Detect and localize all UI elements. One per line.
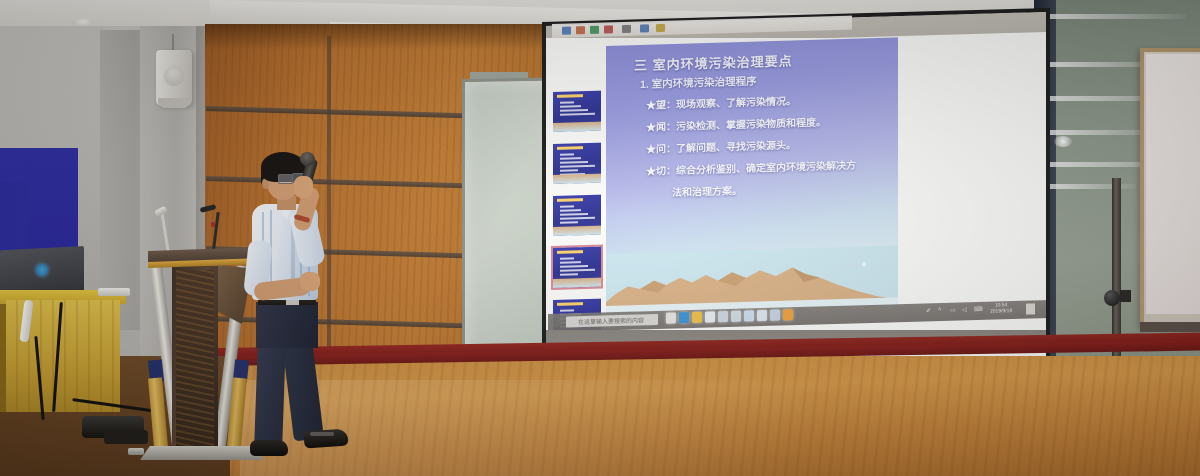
thumb-text-line [560,157,581,160]
ime-icon[interactable]: ⌨ [974,306,983,313]
floor-reflection [240,380,1200,476]
lectern-front-panel [176,270,214,450]
thumb-text-line [560,205,574,207]
thumb-title-bar [557,198,583,202]
slide-bullet-1: ★望：现场观察、了解污染情况。 [646,92,796,111]
table-left-edge [0,304,6,412]
thumb-text-line [560,169,578,172]
thumb-text-line [560,309,574,311]
wechat-icon[interactable] [783,309,793,320]
ribbon-command-5[interactable] [622,25,631,33]
clock-date: 2019/9/19 [990,308,1012,315]
whiteboard-surface[interactable] [1146,54,1200,314]
ribbon-command-4[interactable] [604,25,613,33]
speaker-cone-icon [164,66,184,86]
lectern-base-plate [140,446,264,460]
thumb-text-line [560,165,595,168]
presenter-hand-lower [300,272,320,291]
thumb-title-bar [557,146,583,150]
thumb-text-line [560,109,588,112]
speaker-base [158,98,190,108]
volume-icon[interactable]: ◁ [962,306,967,313]
mic-indicator-light [211,222,215,227]
network-icon[interactable]: ▭ [950,307,956,314]
store-icon[interactable] [705,311,715,322]
wall-seam-vertical [327,36,331,366]
slide-bullet-4-continuation: 法和治理方案。 [672,182,742,199]
thumb-text-line [560,217,595,220]
pen-icon[interactable]: ✐ [926,307,931,314]
slide-subtitle: 1. 室内环境污染治理程序 [640,74,757,92]
slide-bullet-3: ★问：了解问题、寻找污染源头。 [646,136,796,155]
media-player-icon[interactable] [770,310,780,321]
laptop-logo-icon [36,264,48,276]
slide-thumbnail-panel[interactable] [553,90,605,328]
shoe-highlight [310,432,334,436]
glass-light-glare [1054,136,1072,147]
presenter-shoe-left [250,440,288,456]
mountain-graphic-icon [606,245,898,314]
thumb-mountain-icon [553,226,601,236]
thumb-text-line [560,105,581,108]
thumb-text-line [560,265,588,268]
thumb-mountain-icon [553,278,601,288]
thumb-text-line [560,261,581,264]
presenter-glasses-lens-left [278,174,293,184]
thumb-text-line [560,221,578,224]
show-desktop-button[interactable] [1026,303,1035,314]
glass-reflection [1046,14,1186,19]
presenter-trousers [256,302,318,348]
slide-bullet-4: ★切：综合分析鉴别、确定室内环境污染解决方 [646,157,856,178]
thumb-text-line [560,113,595,116]
search-placeholder: 在这里输入要搜索的内容 [578,315,644,326]
thumb-mountain-icon [553,122,601,132]
whiteboard-marker-tray [1140,322,1200,332]
chevron-up-icon[interactable]: ˄ [938,307,942,313]
presenter-remote[interactable] [98,288,130,296]
edge-browser-icon[interactable] [679,312,689,323]
slide-thumb-3[interactable] [553,195,601,236]
thumb-text-line [560,273,578,276]
taskbar-clock[interactable]: 10:54 2019/9/19 [990,302,1012,315]
slide-title: 三 室内环境污染治理要点 [634,50,793,74]
cortana-circle-icon[interactable] [551,316,560,325]
mail-icon[interactable] [718,311,728,322]
thumb-text-line [560,161,588,164]
presenter-hand-upper [294,176,313,198]
app-icon-6[interactable] [731,311,741,322]
thumb-title-bar [557,94,583,98]
lecture-hall-photo: 三 室内环境污染治理要点 1. 室内环境污染治理程序 ★望：现场观察、了解污染情… [0,0,1200,476]
whiteboard-adjust-knob[interactable] [1104,290,1120,306]
ribbon-command-3[interactable] [590,26,599,34]
thumb-text-line [560,101,574,103]
ribbon-command-1[interactable] [562,26,571,34]
floor-equipment [104,430,148,444]
ribbon-command-7[interactable] [656,24,665,32]
current-slide: 三 室内环境污染治理要点 1. 室内环境污染治理程序 ★望：现场观察、了解污染情… [606,37,898,314]
slide-thumb-4[interactable] [553,247,601,288]
floor-small-object [128,448,144,455]
thumb-text-line [560,257,574,259]
powerpoint-icon[interactable] [744,310,754,321]
word-icon[interactable] [757,310,767,321]
thumb-mountain-icon [553,174,601,184]
thumb-text-line [560,153,574,155]
thumb-text-line [560,213,588,216]
whiteboard-clamp [1120,290,1131,302]
thumb-text-line [560,269,595,272]
thumb-title-bar [557,302,583,306]
slide-bullet-2: ★闻：污染检测、掌握污染物质和程度。 [646,113,826,133]
glass-reflection [1046,184,1136,189]
ribbon-command-2[interactable] [576,26,585,34]
ribbon-command-6[interactable] [640,24,649,32]
presenter-leg-left [254,340,286,449]
thumb-title-bar [557,250,583,254]
slide-thumb-2[interactable] [553,143,601,184]
file-explorer-icon[interactable] [692,312,702,323]
slide-thumb-1[interactable] [553,91,601,132]
thumb-text-line [560,209,581,212]
task-view-icon[interactable] [666,312,676,323]
taskbar-search-box[interactable]: 在这里输入要搜索的内容 [566,314,658,328]
